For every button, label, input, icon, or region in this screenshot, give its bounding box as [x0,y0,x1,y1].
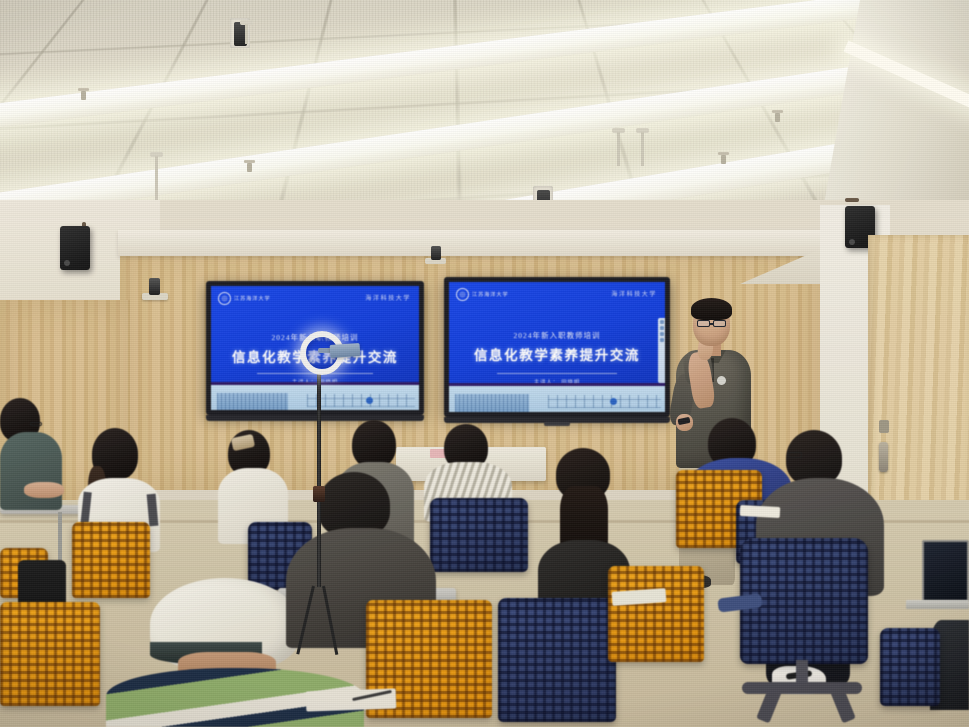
presenter-glasses-left-lens [697,320,710,327]
presenter-glasses-right-lens [713,320,726,327]
chair-navy-far-right[interactable] [880,628,940,706]
sprinkler-4 [721,155,726,164]
presenter-hair [691,298,732,320]
hanger-rod-4 [641,132,644,166]
audience-glasses-p1 [30,422,42,426]
taskbar-right [449,386,665,412]
taskbar-strip-right [548,395,660,409]
presenter-glasses-bridge [710,323,714,325]
presenter-shirt-logo [717,376,726,385]
tripod-pole[interactable] [317,372,321,587]
slide-calligraphy-left: 海洋科技大学 [365,293,411,302]
door-lock-icon [879,420,889,433]
laptop-base-right [906,600,969,609]
door-handle[interactable] [879,442,888,472]
taskbar-strip-left [307,394,415,407]
audience-arm-p1 [24,482,64,498]
university-seal-icon-right [456,288,469,301]
sprinkler-1 [81,91,86,100]
sidebar-tool-2-icon[interactable] [660,326,664,330]
paper-stack-2 [740,505,781,518]
chair-navy-row2-a[interactable] [430,498,528,572]
slide-title-right: 信息化教学素养提升交流 [449,344,665,364]
tripod-height-lock[interactable] [313,486,325,502]
phone-holder-clamp[interactable] [330,343,361,358]
desk-leg-left [58,512,62,564]
sprinkler-2 [247,163,252,172]
sidebar-tool-4-icon[interactable] [660,338,664,342]
university-name-left: 江苏海洋大学 [234,295,271,302]
classroom-photo-scene: 江苏海洋大学 海洋科技大学 2024年新入职教师培训 信息化教学素养提升交流 主… [0,0,969,727]
sidebar-tool-1-icon[interactable] [660,320,664,324]
chair-orange-row2-a[interactable] [72,522,150,598]
wall-speaker-left [60,226,90,270]
chair-orange-front-right[interactable] [608,566,704,662]
slide-subtitle-right: 2024年新入职教师培训 [449,330,665,341]
wall-soffit-band [118,230,830,256]
taskbar-left [211,385,419,410]
speaker-bracket-right [845,198,859,202]
university-name-right: 江苏海洋大学 [472,291,509,298]
sprinkler-3 [775,113,780,122]
audience-glasses-p10 [788,452,802,458]
display-sidebar-toolbar[interactable] [658,318,665,383]
university-seal-icon [218,292,231,305]
slide-divider-right [497,373,618,374]
left-display-bezel [206,415,424,421]
audience-torso-p1 [0,432,62,510]
laptop-screen-right[interactable] [922,540,969,602]
right-display-slide: 江苏海洋大学 海洋科技大学 2024年新入职教师培训 信息化教学素养提升交流 主… [449,282,665,412]
wall-camera-middle-icon [431,246,441,260]
slide-logo-row-left: 江苏海洋大学 [218,292,271,305]
chair-orange-front-left[interactable] [0,602,100,706]
hanger-rod-1 [155,156,158,200]
hanger-rod-2 [245,24,248,44]
slide-logo-row-right: 江苏海洋大学 [456,288,509,301]
chair-navy-front-center[interactable] [498,598,616,722]
campus-building-graphic-right [455,394,528,412]
classroom-door[interactable] [868,235,969,535]
sidebar-tool-3-icon[interactable] [660,332,664,336]
right-display[interactable]: 江苏海洋大学 海洋科技大学 2024年新入职教师培训 信息化教学素养提升交流 主… [444,277,670,417]
audience-head-p5 [352,420,396,468]
hanger-rod-3 [617,132,620,166]
right-display-stand [544,422,570,426]
taskbar-dot-left[interactable] [366,397,373,404]
wall-camera-left-icon [149,278,160,295]
slide-calligraphy-right: 海洋科技大学 [611,289,657,298]
campus-building-graphic-left [217,393,288,410]
